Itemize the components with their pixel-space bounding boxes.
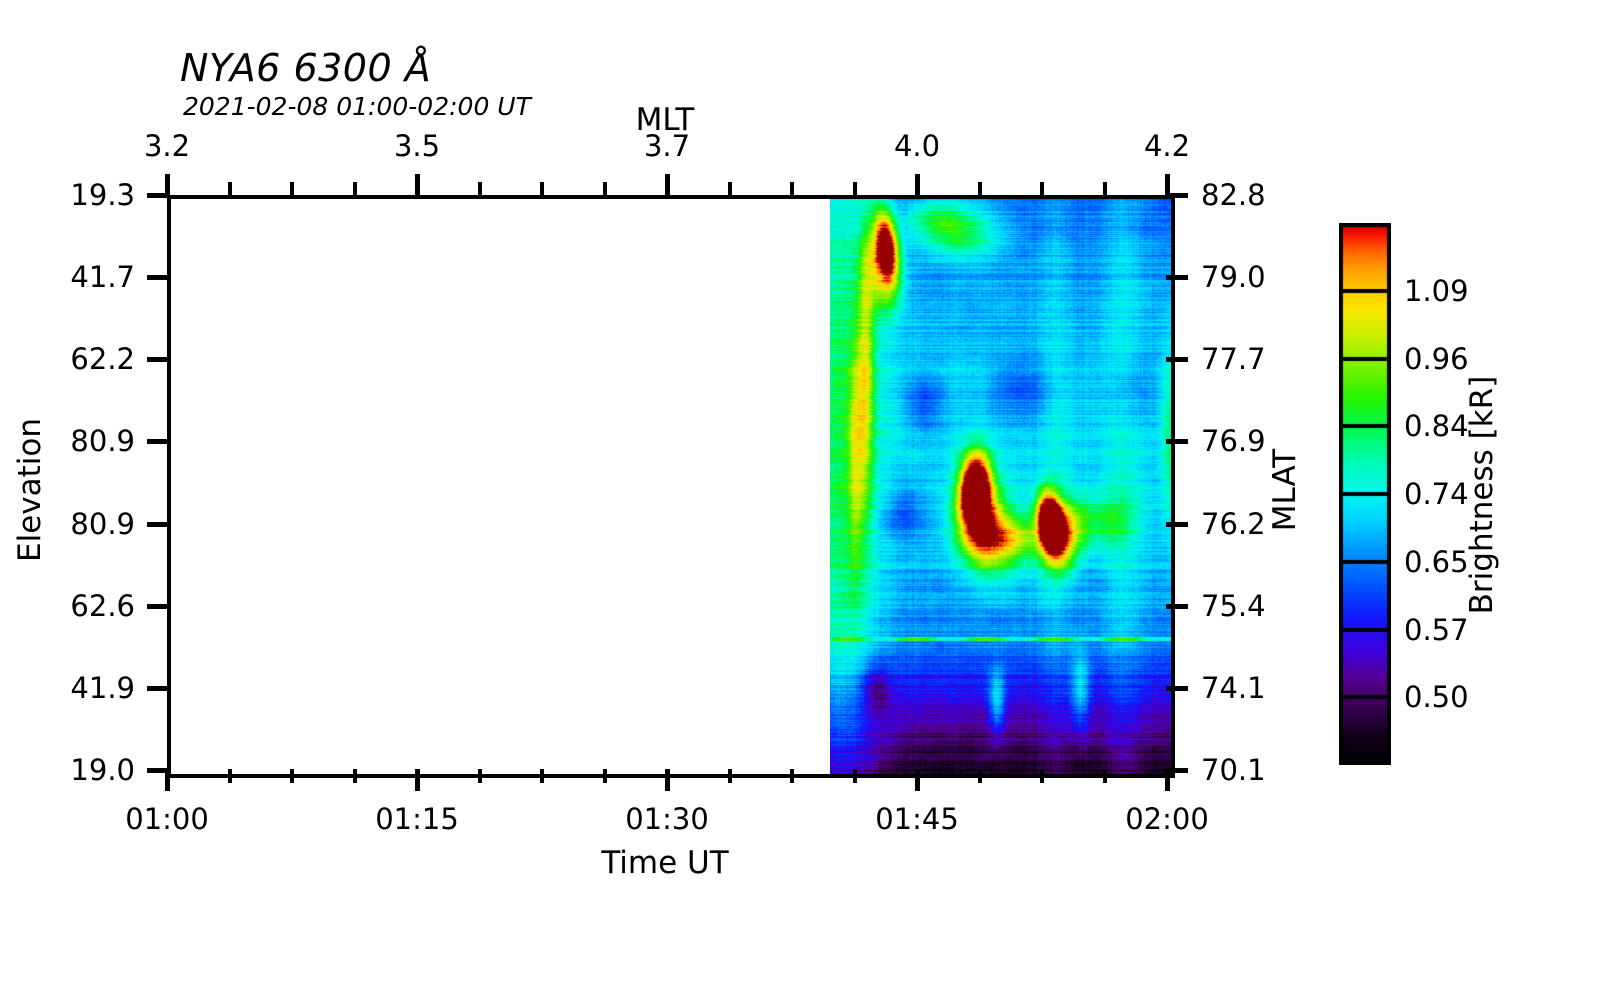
left-tick-label: 19.3 <box>35 178 135 212</box>
top-tick-label: 3.5 <box>394 129 440 163</box>
left-tick-label: 62.6 <box>35 589 135 623</box>
right-tick <box>1166 275 1188 280</box>
bottom-major-tick <box>665 769 670 791</box>
right-tick <box>1166 686 1188 691</box>
right-tick-label: 79.0 <box>1201 260 1266 294</box>
left-tick-label: 19.0 <box>35 753 135 787</box>
top-minor-tick <box>1040 182 1044 196</box>
right-tick <box>1166 768 1188 773</box>
right-tick <box>1166 604 1188 609</box>
left-tick <box>147 357 169 362</box>
top-tick-label: 3.2 <box>144 129 190 163</box>
top-minor-tick <box>853 182 857 196</box>
bottom-major-tick <box>915 769 920 791</box>
colorbar-tick-label: 0.57 <box>1404 613 1469 647</box>
top-major-tick <box>415 174 420 196</box>
right-tick-label: 82.8 <box>1201 178 1266 212</box>
left-tick <box>147 686 169 691</box>
right-tick <box>1166 193 1188 198</box>
bottom-tick-label: 01:45 <box>875 802 959 836</box>
right-tick <box>1166 439 1188 444</box>
right-tick <box>1166 522 1188 527</box>
left-tick <box>147 768 169 773</box>
right-tick-label: 75.4 <box>1201 589 1266 623</box>
bottom-minor-tick <box>728 769 732 783</box>
top-minor-tick <box>478 182 482 196</box>
colorbar-tick-label: 0.65 <box>1404 545 1469 579</box>
bottom-minor-tick <box>228 769 232 783</box>
left-tick-label: 41.7 <box>35 260 135 294</box>
top-minor-tick <box>228 182 232 196</box>
left-tick-label: 62.2 <box>35 342 135 376</box>
colorbar <box>1339 223 1391 765</box>
colorbar-gradient <box>1339 223 1391 765</box>
bottom-minor-tick <box>603 769 607 783</box>
left-tick-label: 41.9 <box>35 671 135 705</box>
bottom-minor-tick <box>1040 769 1044 783</box>
bottom-minor-tick <box>790 769 794 783</box>
top-major-tick <box>915 174 920 196</box>
top-tick-label: 3.7 <box>644 129 690 163</box>
bottom-minor-tick <box>540 769 544 783</box>
right-tick-label: 74.1 <box>1201 671 1266 705</box>
left-tick <box>147 439 169 444</box>
page-subtitle: 2021-02-08 01:00-02:00 UT <box>183 92 531 121</box>
bottom-axis-title-time: Time UT <box>601 845 728 881</box>
bottom-minor-tick <box>290 769 294 783</box>
bottom-tick-label: 01:30 <box>625 802 709 836</box>
colorbar-tick-label: 0.50 <box>1404 680 1469 714</box>
top-minor-tick <box>290 182 294 196</box>
right-tick-label: 70.1 <box>1201 753 1266 787</box>
right-tick-label: 76.9 <box>1201 424 1266 458</box>
top-minor-tick <box>790 182 794 196</box>
bottom-tick-label: 01:15 <box>375 802 459 836</box>
top-minor-tick <box>1103 182 1107 196</box>
keogram-image <box>830 199 1171 774</box>
right-axis-title-mlat: MLAT <box>1267 449 1303 531</box>
bottom-minor-tick <box>1103 769 1107 783</box>
top-tick-label: 4.0 <box>894 129 940 163</box>
left-tick <box>147 604 169 609</box>
top-tick-label: 4.2 <box>1144 129 1190 163</box>
keogram-plot-frame <box>167 195 1175 778</box>
top-major-tick <box>665 174 670 196</box>
top-minor-tick <box>353 182 357 196</box>
left-tick <box>147 522 169 527</box>
bottom-minor-tick <box>853 769 857 783</box>
left-tick-label: 80.9 <box>35 424 135 458</box>
right-tick <box>1166 357 1188 362</box>
colorbar-title-brightness: Brightness [kR] <box>1464 376 1500 615</box>
top-minor-tick <box>603 182 607 196</box>
left-tick <box>147 275 169 280</box>
colorbar-tick-label: 0.96 <box>1404 342 1469 376</box>
bottom-tick-label: 01:00 <box>125 802 209 836</box>
bottom-major-tick <box>415 769 420 791</box>
left-tick-label: 80.9 <box>35 507 135 541</box>
right-tick-label: 76.2 <box>1201 507 1266 541</box>
page-title: NYA6 6300 Å <box>180 46 431 90</box>
top-minor-tick <box>978 182 982 196</box>
bottom-tick-label: 02:00 <box>1125 802 1209 836</box>
colorbar-tick-label: 1.09 <box>1404 274 1469 308</box>
bottom-minor-tick <box>978 769 982 783</box>
left-tick <box>147 193 169 198</box>
top-minor-tick <box>728 182 732 196</box>
colorbar-tick-label: 0.74 <box>1404 477 1469 511</box>
bottom-minor-tick <box>353 769 357 783</box>
colorbar-tick-label: 0.84 <box>1404 409 1469 443</box>
bottom-minor-tick <box>478 769 482 783</box>
right-tick-label: 77.7 <box>1201 342 1266 376</box>
top-minor-tick <box>540 182 544 196</box>
